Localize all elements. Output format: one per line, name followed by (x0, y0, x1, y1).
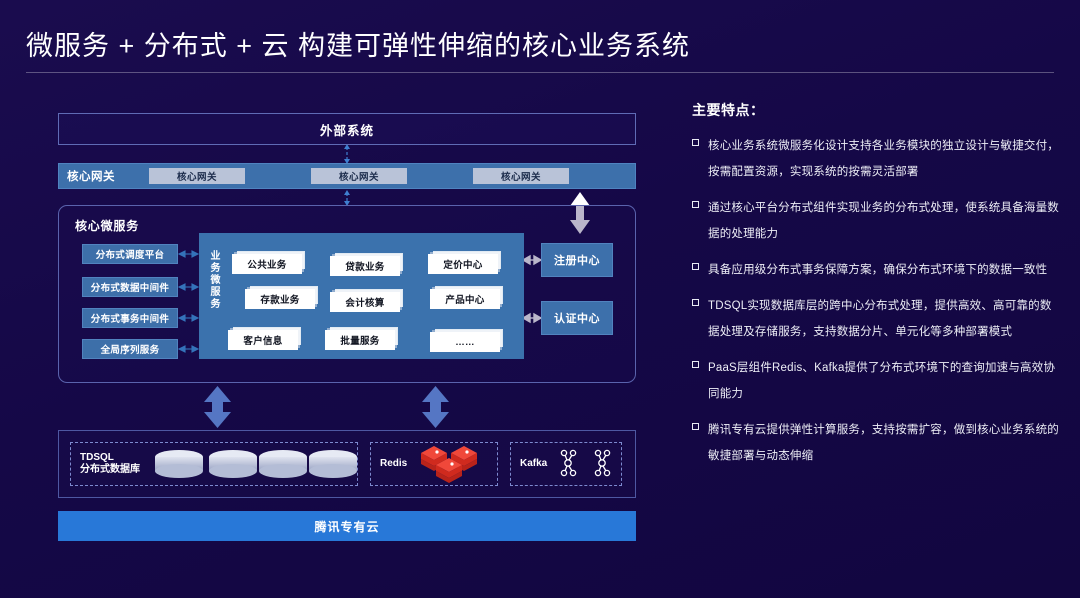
checkbox-square-icon (692, 201, 699, 208)
gateway-chip-3: 核心网关 (473, 168, 569, 184)
database-cylinder-icon (154, 446, 357, 482)
business-service-chip-5: 会计核算 (330, 292, 400, 312)
tdsql-label: TDSQL 分布式数据库 (80, 452, 140, 476)
feature-item: 腾讯专有云提供弹性计算服务，支持按需扩容，做到核心业务系统的敏捷部署与动态伸缩 (692, 417, 1062, 469)
checkbox-square-icon (692, 139, 699, 146)
feature-item: TDSQL实现数据库层的跨中心分布式处理，提供高效、高可靠的数据处理及存储服务，… (692, 293, 1062, 345)
tencent-cloud-bar: 腾讯专有云 (58, 511, 636, 541)
middleware-box-4: 全局序列服务 (82, 339, 178, 359)
business-service-chip-3: 定价中心 (428, 254, 498, 274)
core-gateway-bar: 核心网关 核心网关 核心网关 核心网关 (58, 163, 636, 189)
core-microservices-title: 核心微服务 (75, 217, 139, 234)
kafka-label: Kafka (520, 458, 547, 470)
kafka-nodes-icon (557, 447, 619, 481)
checkbox-square-icon (692, 263, 699, 270)
feature-text: 通过核心平台分布式组件实现业务的分布式处理，使系统具备海量数据的处理能力 (708, 195, 1062, 247)
business-service-chip-6: 产品中心 (430, 289, 500, 309)
features-panel: 主要特点： 核心业务系统微服务化设计支持各业务模块的独立设计与敏捷交付，按需配置… (692, 100, 1062, 479)
auth-center-box: 认证中心 (541, 301, 613, 335)
architecture-diagram: 外部系统 核心网关 核心网关 核心网关 核心网关 核心微服务 分布式调度平台 分… (0, 0, 680, 598)
business-service-chip-2: 贷款业务 (330, 256, 400, 276)
feature-item: 通过核心平台分布式组件实现业务的分布式处理，使系统具备海量数据的处理能力 (692, 195, 1062, 247)
tdsql-cell: TDSQL 分布式数据库 (70, 442, 358, 486)
business-service-chip-1: 公共业务 (232, 254, 302, 274)
registry-center-box: 注册中心 (541, 243, 613, 277)
business-service-chip-8: 批量服务 (325, 330, 395, 350)
external-system-label: 外部系统 (320, 120, 374, 139)
checkbox-square-icon (692, 299, 699, 306)
feature-item: 核心业务系统微服务化设计支持各业务模块的独立设计与敏捷交付，按需配置资源，实现系… (692, 133, 1062, 185)
slide-root: 微服务 + 分布式 + 云 构建可弹性伸缩的核心业务系统 (0, 0, 1080, 598)
feature-text: 核心业务系统微服务化设计支持各业务模块的独立设计与敏捷交付，按需配置资源，实现系… (708, 133, 1062, 185)
external-system-box: 外部系统 (58, 113, 636, 145)
gateway-chip-1: 核心网关 (149, 168, 245, 184)
kafka-cell: Kafka (510, 442, 622, 486)
middleware-box-2: 分布式数据中间件 (82, 277, 178, 297)
feature-text: TDSQL实现数据库层的跨中心分布式处理，提供高效、高可靠的数据处理及存储服务，… (708, 293, 1062, 345)
redis-cube-icon (413, 444, 485, 484)
feature-item: 具备应用级分布式事务保障方案，确保分布式环境下的数据一致性 (692, 257, 1062, 283)
business-service-chip-4: 存款业务 (245, 289, 315, 309)
checkbox-square-icon (692, 423, 699, 430)
redis-label: Redis (380, 458, 407, 470)
checkbox-square-icon (692, 361, 699, 368)
core-gateway-title: 核心网关 (67, 168, 145, 184)
redis-cell: Redis (370, 442, 498, 486)
feature-text: PaaS层组件Redis、Kafka提供了分布式环境下的查询加速与高效协同能力 (708, 355, 1062, 407)
middleware-box-3: 分布式事务中间件 (82, 308, 178, 328)
middleware-box-1: 分布式调度平台 (82, 244, 178, 264)
features-title: 主要特点： (692, 100, 1062, 120)
business-microservices-vertical-label: 业务微服务 (204, 250, 220, 310)
business-service-chip-7: 客户信息 (228, 330, 298, 350)
feature-item: PaaS层组件Redis、Kafka提供了分布式环境下的查询加速与高效协同能力 (692, 355, 1062, 407)
feature-text: 具备应用级分布式事务保障方案，确保分布式环境下的数据一致性 (708, 257, 1047, 283)
feature-text: 腾讯专有云提供弹性计算服务，支持按需扩容，做到核心业务系统的敏捷部署与动态伸缩 (708, 417, 1062, 469)
gateway-chip-2: 核心网关 (311, 168, 407, 184)
business-service-chip-9: …… (430, 332, 500, 352)
core-to-infra-arrows (204, 386, 449, 428)
